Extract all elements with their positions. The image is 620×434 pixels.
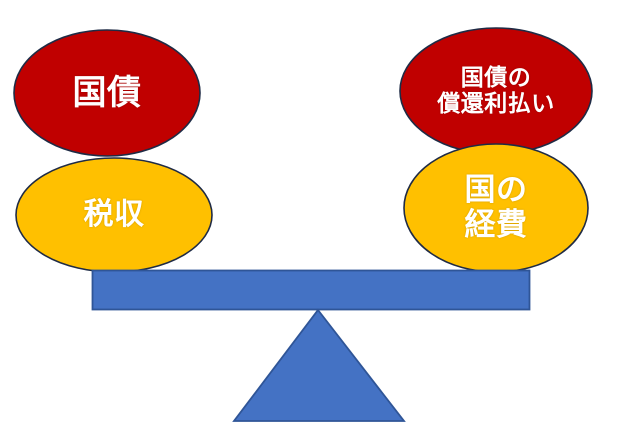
balance-beam[interactable]: [93, 271, 530, 310]
balance-diagram-canvas: 国債 国債の 償還利払い 税収 国の 経費: [0, 0, 620, 434]
ellipse-tax-revenue[interactable]: [16, 158, 212, 272]
ellipse-national-expenses[interactable]: [404, 144, 588, 272]
ellipse-bond-redemption-interest[interactable]: [400, 28, 592, 154]
balance-fulcrum[interactable]: [234, 310, 404, 421]
ellipse-government-bonds[interactable]: [14, 30, 200, 156]
balance-shapes: [0, 0, 620, 434]
